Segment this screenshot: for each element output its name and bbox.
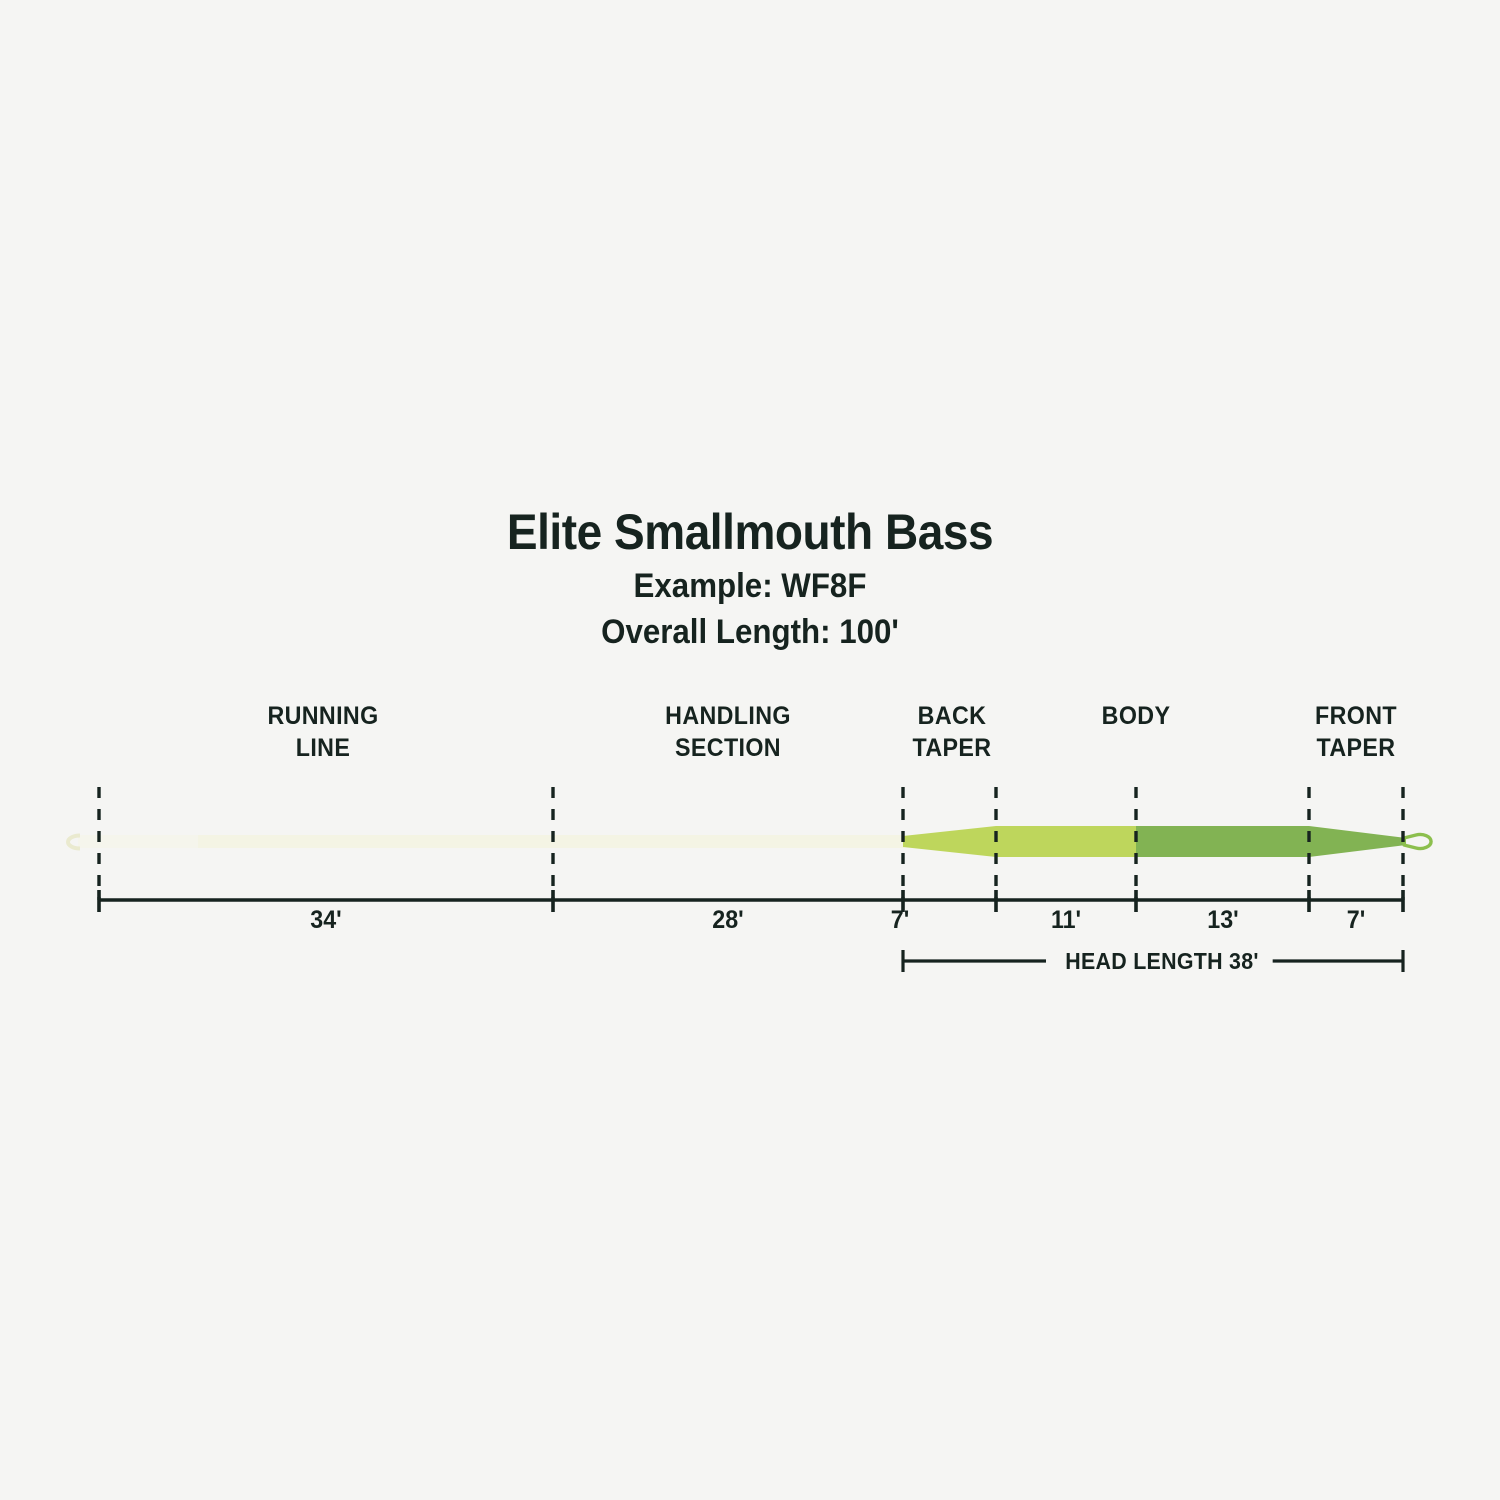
tip-loop-icon (1404, 835, 1431, 849)
head-length-label: HEAD LENGTH 38' (1051, 948, 1272, 975)
measure-back-taper: 7' (856, 906, 943, 935)
back-taper-profile (903, 826, 996, 857)
taper-profile-graphic (0, 0, 1500, 1500)
measure-body-dark: 13' (1179, 906, 1266, 935)
fly-line-taper-diagram: Elite Smallmouth Bass Example: WF8F Over… (0, 0, 1500, 1500)
measure-running-line: 34' (236, 906, 416, 935)
body-dark-profile (1136, 826, 1309, 857)
front-taper-profile (1309, 826, 1406, 857)
running-line-profile (78, 835, 905, 848)
body-light-profile (996, 826, 1136, 857)
measure-handling-section: 28' (638, 906, 818, 935)
measure-front-taper: 7' (1312, 906, 1399, 935)
measure-body-light: 11' (1022, 906, 1109, 935)
running-line-fade (78, 835, 198, 848)
